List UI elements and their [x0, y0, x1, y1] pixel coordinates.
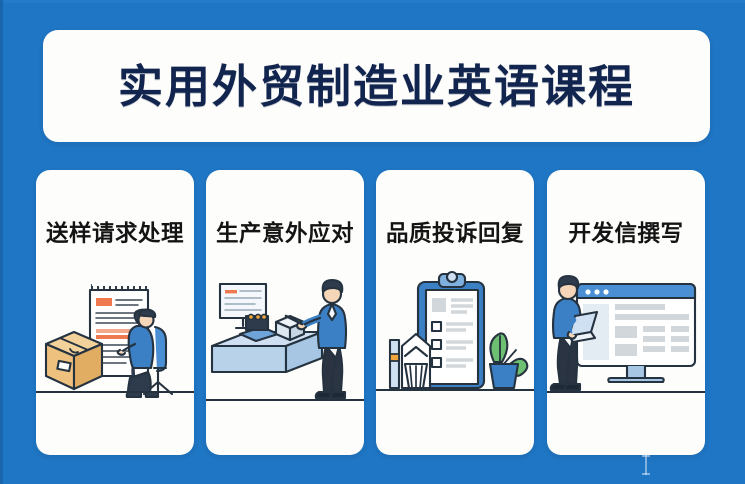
- left-edge-strip: [0, 0, 3, 484]
- topic-card-title: 品质投诉回复: [376, 216, 534, 248]
- header-card: 实用外贸制造业英语课程: [43, 30, 710, 142]
- poster-canvas: 实用外贸制造业英语课程 送样请求处理: [0, 0, 745, 484]
- topic-card-production-incident[interactable]: 生产意外应对: [206, 170, 364, 455]
- topic-card-title: 开发信撰写: [547, 216, 705, 248]
- topic-card-title: 送样请求处理: [36, 216, 194, 248]
- topic-card-title: 生产意外应对: [206, 216, 364, 248]
- quality-complaint-illustration: [376, 270, 534, 420]
- top-edge-strip: [0, 0, 745, 3]
- topic-card-prospecting-email[interactable]: 开发信撰写: [547, 170, 705, 455]
- page-title: 实用外贸制造业英语课程: [118, 64, 635, 109]
- topic-card-row: 送样请求处理: [36, 170, 716, 455]
- prospecting-email-illustration: [547, 270, 705, 420]
- i-beam-cursor: [645, 455, 647, 475]
- production-incident-illustration: [206, 270, 364, 420]
- topic-card-quality-complaint[interactable]: 品质投诉回复: [376, 170, 534, 455]
- sample-request-illustration: [36, 270, 194, 420]
- topic-card-sample-request[interactable]: 送样请求处理: [36, 170, 194, 455]
